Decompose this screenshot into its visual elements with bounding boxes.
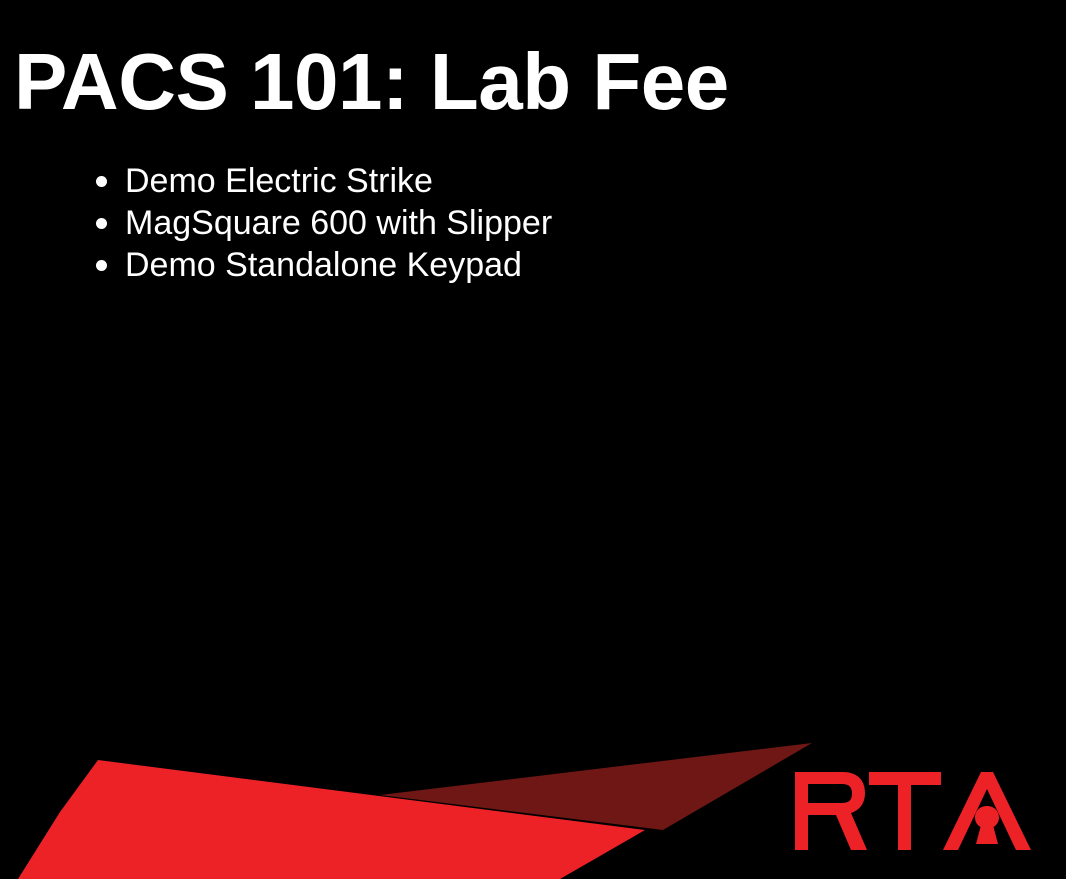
bullet-dot-icon bbox=[96, 218, 107, 229]
rta-logo-glyphs bbox=[795, 772, 1031, 850]
list-item: MagSquare 600 with Slipper bbox=[88, 202, 968, 244]
list-item-label: Demo Electric Strike bbox=[125, 160, 433, 202]
logo-letter-r bbox=[795, 772, 867, 850]
page-title: PACS 101: Lab Fee bbox=[14, 34, 1014, 130]
bullet-dot-icon bbox=[96, 176, 107, 187]
slide-canvas: PACS 101: Lab Fee Demo Electric Strike M… bbox=[0, 0, 1066, 879]
list-item-label: Demo Standalone Keypad bbox=[125, 244, 522, 286]
bullet-dot-icon bbox=[96, 260, 107, 271]
list-item-label: MagSquare 600 with Slipper bbox=[125, 202, 552, 244]
bullet-list: Demo Electric Strike MagSquare 600 with … bbox=[88, 160, 968, 286]
rta-logo bbox=[795, 772, 1031, 850]
logo-letter-t bbox=[869, 772, 941, 850]
keyhole-icon bbox=[975, 806, 999, 844]
list-item: Demo Electric Strike bbox=[88, 160, 968, 202]
list-item: Demo Standalone Keypad bbox=[88, 244, 968, 286]
